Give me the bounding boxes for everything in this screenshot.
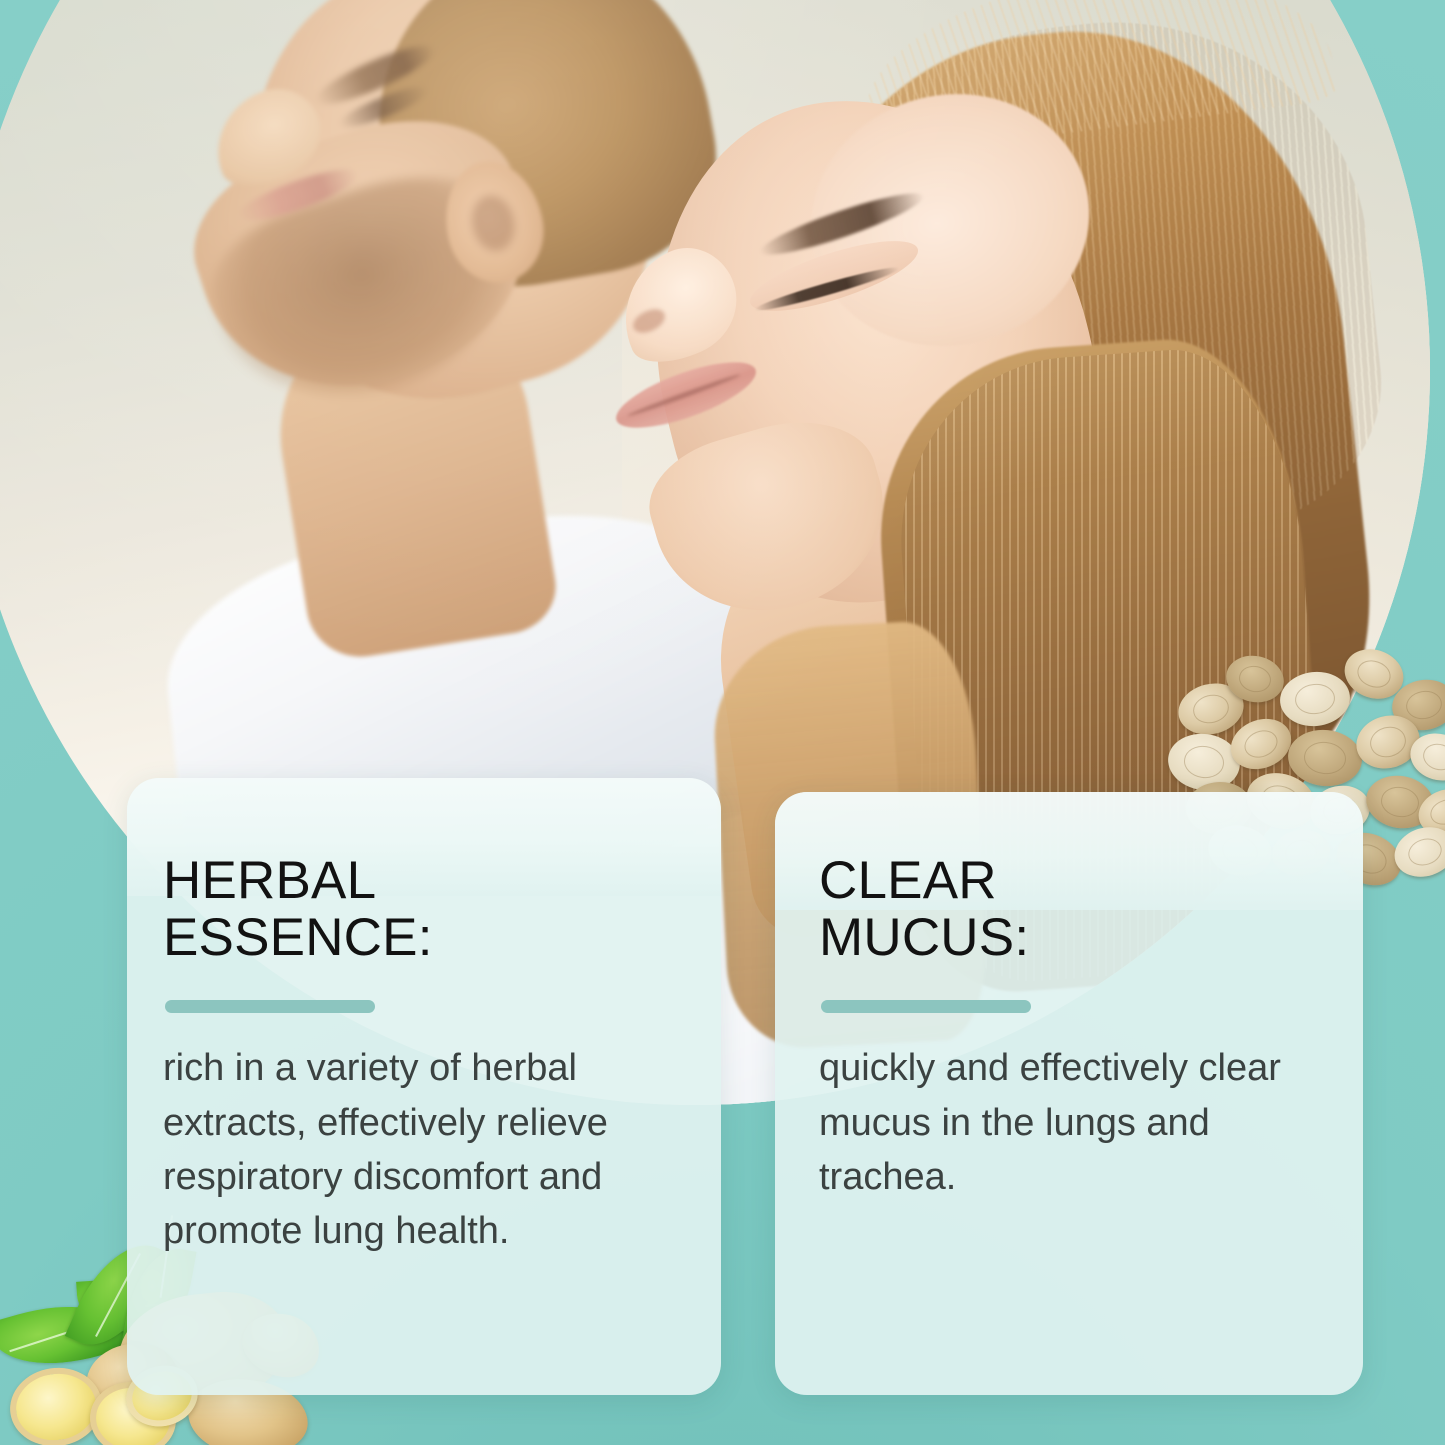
card-text-clear-mucus: quickly and effectively clear mucus in t… bbox=[819, 1041, 1299, 1204]
infographic-canvas: HERBAL ESSENCE: rich in a variety of her… bbox=[0, 0, 1445, 1445]
accent-divider-left bbox=[165, 1000, 375, 1013]
benefit-card-herbal-essence[interactable]: HERBAL ESSENCE: rich in a variety of her… bbox=[127, 778, 721, 1395]
card-body: CLEAR MUCUS: quickly and effectively cle… bbox=[775, 792, 1363, 1204]
accent-divider-right bbox=[821, 1000, 1031, 1013]
card-title-clear-mucus: CLEAR MUCUS: bbox=[819, 852, 1363, 966]
benefit-card-clear-mucus[interactable]: CLEAR MUCUS: quickly and effectively cle… bbox=[775, 792, 1363, 1395]
card-title-herbal-essence: HERBAL ESSENCE: bbox=[163, 852, 721, 966]
card-body: HERBAL ESSENCE: rich in a variety of her… bbox=[127, 778, 721, 1259]
card-text-herbal-essence: rich in a variety of herbal extracts, ef… bbox=[163, 1041, 661, 1258]
